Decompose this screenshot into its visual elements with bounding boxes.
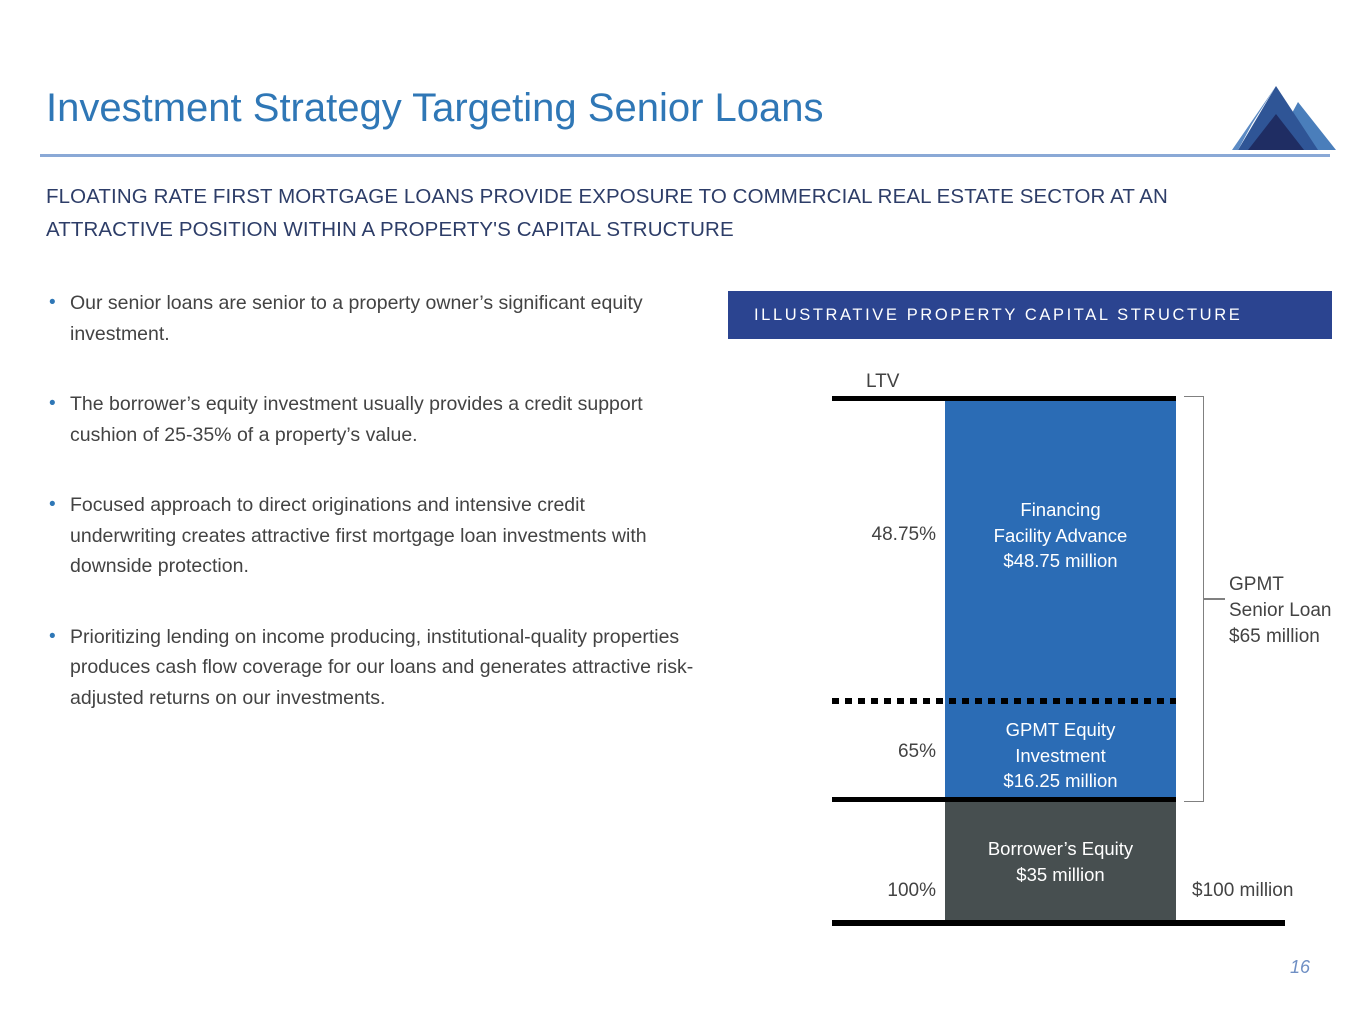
bullet-marker-icon: • <box>44 288 70 318</box>
segment-label-line2: Investment <box>945 743 1176 769</box>
list-item: • Our senior loans are senior to a prope… <box>44 288 694 349</box>
chart-segment-gpmt-equity-investment <box>945 703 1176 799</box>
slide-subtitle: FLOATING RATE FIRST MORTGAGE LOANS PROVI… <box>46 180 1296 246</box>
chart-bracket-label: GPMT Senior Loan $65 million <box>1229 572 1331 650</box>
segment-label-line3: $48.75 million <box>945 548 1176 574</box>
segment-label-line2: $35 million <box>945 862 1176 888</box>
bullet-text: Focused approach to direct originations … <box>70 490 694 582</box>
segment-label-line3: $16.25 million <box>945 768 1176 794</box>
list-item: • Focused approach to direct origination… <box>44 490 694 582</box>
chart-tick-label-100: 100% <box>816 880 936 902</box>
bullet-text: Prioritizing lending on income producing… <box>70 622 694 714</box>
bullet-text: Our senior loans are senior to a propert… <box>70 288 694 349</box>
chart-segment-label-borrowers-equity: Borrower’s Equity $35 million <box>945 836 1176 887</box>
chart-rule-bottom-100 <box>832 920 1285 926</box>
list-item: • The borrower’s equity investment usual… <box>44 389 694 450</box>
segment-label-line1: GPMT Equity <box>945 717 1176 743</box>
page-title: Investment Strategy Targeting Senior Loa… <box>46 86 824 131</box>
chart-rule-dotted-4875 <box>832 698 1176 704</box>
segment-label-line2: Facility Advance <box>945 523 1176 549</box>
chart-senior-loan-bracket <box>1184 396 1204 802</box>
chart-total-value-label: $100 million <box>1192 880 1293 902</box>
segment-label-line1: Financing <box>945 497 1176 523</box>
chart-banner-title: ILLUSTRATIVE PROPERTY CAPITAL STRUCTURE <box>728 291 1332 339</box>
chart-segment-financing-facility-advance <box>945 398 1176 703</box>
chart-rule-65 <box>832 797 1176 802</box>
bullet-list: • Our senior loans are senior to a prope… <box>44 288 694 753</box>
chart-segment-borrowers-equity <box>945 801 1176 920</box>
bullet-marker-icon: • <box>44 389 70 419</box>
segment-label-line1: Borrower’s Equity <box>945 836 1176 862</box>
chart-rule-top <box>832 396 1176 401</box>
list-item: • Prioritizing lending on income produci… <box>44 622 694 714</box>
bullet-marker-icon: • <box>44 490 70 520</box>
chart-tick-label-4875: 48.75% <box>816 524 936 546</box>
chart-segment-label-financing: Financing Facility Advance $48.75 millio… <box>945 497 1176 574</box>
chart-bracket-stem <box>1203 598 1225 600</box>
bullet-marker-icon: • <box>44 622 70 652</box>
bracket-label-line1: GPMT <box>1229 572 1331 598</box>
bullet-text: The borrower’s equity investment usually… <box>70 389 694 450</box>
title-divider <box>40 154 1330 157</box>
chart-segment-label-gpmt-equity: GPMT Equity Investment $16.25 million <box>945 717 1176 794</box>
page-number: 16 <box>1290 957 1310 978</box>
chart-tick-label-65: 65% <box>816 741 936 763</box>
bracket-label-line3: $65 million <box>1229 624 1331 650</box>
bracket-label-line2: Senior Loan <box>1229 598 1331 624</box>
mountain-logo <box>1232 84 1336 150</box>
chart-axis-title-ltv: LTV <box>866 371 899 393</box>
